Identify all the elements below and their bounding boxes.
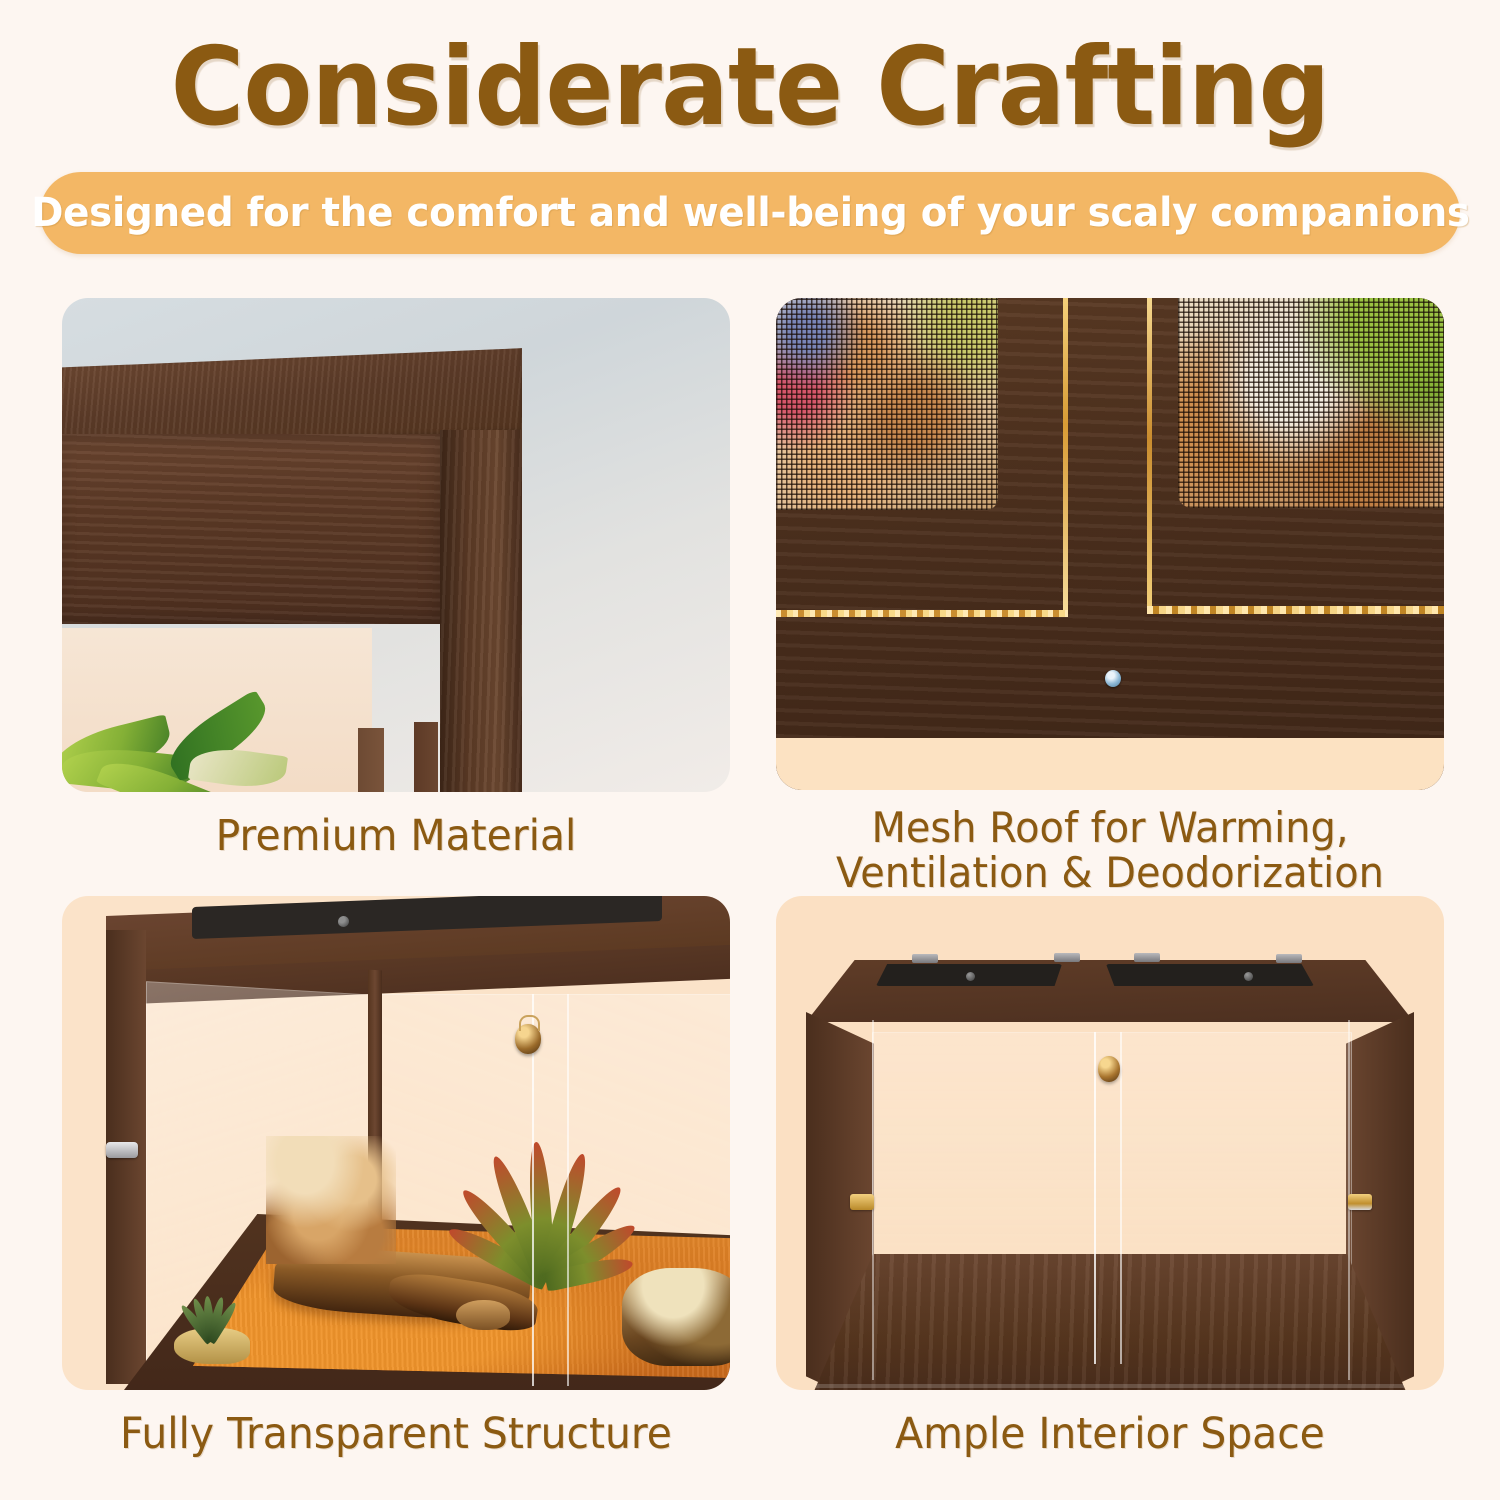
caption-ample-interior-space: Ample Interior Space (793, 1412, 1428, 1458)
roof-hinge-icon (912, 954, 938, 963)
feature-card-mesh-roof: Mesh Roof for Warming, Ventilation & Deo… (776, 298, 1444, 895)
screw-icon (1105, 670, 1121, 687)
mesh-screen-panel-left (776, 298, 998, 510)
glass-door-seam-right (567, 994, 569, 1386)
door-knob-icon (1098, 1056, 1120, 1082)
ample-interior-photo (776, 896, 1444, 1390)
subtitle-banner: Designed for the comfort and well-being … (40, 172, 1460, 254)
caption-mesh-roof-line2: Ventilation & Deodorization (793, 851, 1428, 896)
glass-door-seam-left (1094, 1032, 1096, 1364)
side-lock-icon-right (1348, 1194, 1372, 1210)
roof-hinge-icon (1134, 953, 1160, 962)
transparent-structure-photo (62, 896, 730, 1390)
gold-trim-vertical-right (1147, 298, 1152, 610)
leafy-plant-decor (440, 1092, 660, 1282)
side-lock-icon-left (850, 1194, 874, 1210)
roof-mesh-insert-right (1106, 964, 1314, 986)
terrarium-floor (806, 1254, 1414, 1390)
subtitle-text: Designed for the comfort and well-being … (31, 190, 1469, 236)
roof-hinge-icon (1276, 954, 1302, 963)
screw-icon (966, 972, 975, 981)
pebble-decor (456, 1300, 510, 1330)
roof-hinge-icon (1054, 953, 1080, 962)
side-lock-icon (106, 1142, 138, 1158)
floor-front-edge (816, 1384, 1404, 1388)
gold-trim-horizontal-right (1147, 606, 1444, 614)
succulent-plant (182, 1282, 238, 1346)
feature-card-transparent-structure: Fully Transparent Structure (62, 896, 730, 1458)
feature-card-ample-interior-space: Ample Interior Space (776, 896, 1444, 1458)
photo-bottom-strip (776, 738, 1444, 790)
wood-inner-leg-2 (414, 722, 438, 792)
caption-transparent-structure: Fully Transparent Structure (79, 1412, 714, 1458)
rock-decor (622, 1268, 730, 1366)
glass-door-seam-right (1120, 1032, 1122, 1364)
mesh-screen-panel-right (1178, 298, 1444, 508)
wood-corner-post (440, 430, 522, 792)
dried-foliage-decor (266, 1136, 396, 1264)
caption-mesh-roof: Mesh Roof for Warming, Ventilation & Deo… (793, 806, 1428, 895)
page-title: Considerate Crafting (53, 0, 1448, 142)
door-knob-icon (515, 1024, 541, 1054)
premium-material-photo (62, 298, 730, 792)
mesh-roof-photo (776, 298, 1444, 790)
wood-inner-leg (358, 728, 384, 792)
gold-trim-vertical-left (1063, 298, 1068, 614)
feature-card-premium-material: Premium Material (62, 298, 730, 860)
wood-front-face (62, 434, 442, 624)
screw-icon (1244, 972, 1253, 981)
caption-mesh-roof-line1: Mesh Roof for Warming, (793, 806, 1428, 851)
gold-trim-horizontal-left (776, 610, 1068, 617)
caption-premium-material: Premium Material (79, 814, 714, 860)
